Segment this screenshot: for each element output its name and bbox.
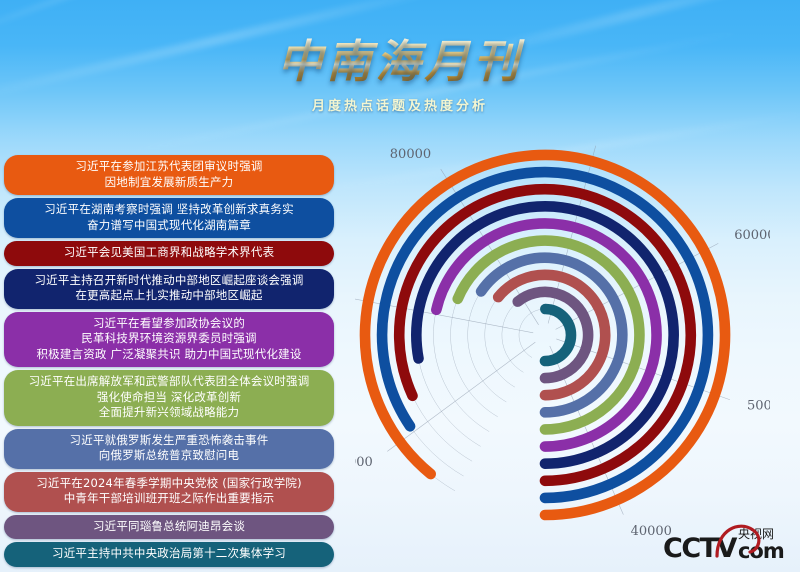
legend-item[interactable]: 习近平主持中共中央政治局第十二次集体学习 — [4, 542, 334, 567]
cctv-swoosh-icon — [709, 516, 769, 562]
legend-item[interactable]: 习近平在参加江苏代表团审议时强调 因地制宜发展新质生产力 — [4, 155, 334, 195]
axis-tick-label: 100000 — [355, 455, 373, 470]
page-title: 中南海月刊 — [0, 38, 800, 85]
legend-item-label: 习近平主持召开新时代推动中部地区崛起座谈会强调 在更高起点上扎实推动中部地区崛起 — [34, 273, 303, 303]
legend-item-label: 习近平在参加江苏代表团审议时强调 因地制宜发展新质生产力 — [75, 159, 262, 189]
axis-tick-label: 50000 — [747, 399, 770, 414]
legend-item[interactable]: 习近平在2024年春季学期中央党校 (国家行政学院) 中青年干部培训班开班之际作… — [4, 472, 334, 512]
chart-bars — [365, 155, 725, 515]
legend-item-label: 习近平在看望参加政协会议的 民革科技界环境资源界委员时强调 积极建言资政 广泛凝… — [36, 316, 301, 361]
axis-tick-label: 60000 — [734, 228, 770, 243]
legend-item-label: 习近平会见美国工商界和战略学术界代表 — [64, 245, 275, 259]
legend-item[interactable]: 习近平在出席解放军和武警部队代表团全体会议时强调 强化使命担当 深化改革创新 全… — [4, 370, 334, 426]
legend-item[interactable]: 习近平会见美国工商界和战略学术界代表 — [4, 241, 334, 266]
chart-svg: 400005000060000700008000090000100000 — [355, 135, 770, 545]
chart-bar[interactable] — [545, 309, 571, 361]
radial-bar-chart: 400005000060000700008000090000100000 — [355, 135, 770, 545]
legend-item[interactable]: 习近平主持召开新时代推动中部地区崛起座谈会强调 在更高起点上扎实推动中部地区崛起 — [4, 269, 334, 309]
axis-tick-label: 80000 — [390, 147, 431, 162]
legend-item-label: 习近平在出席解放军和武警部队代表团全体会议时强调 强化使命担当 深化改革创新 全… — [29, 374, 310, 419]
legend-item[interactable]: 习近平同瑙鲁总统阿迪昂会谈 — [4, 515, 334, 540]
legend-item-label: 习近平主持中共中央政治局第十二次集体学习 — [52, 546, 286, 560]
legend-item-label: 习近平就俄罗斯发生严重恐怖袭击事件 向俄罗斯总统普京致慰问电 — [70, 433, 269, 463]
legend-item[interactable]: 习近平在看望参加政协会议的 民革科技界环境资源界委员时强调 积极建言资政 广泛凝… — [4, 312, 334, 368]
legend-item[interactable]: 习近平就俄罗斯发生严重恐怖袭击事件 向俄罗斯总统普京致慰问电 — [4, 429, 334, 469]
legend-item[interactable]: 习近平在湖南考察时强调 坚持改革创新求真务实 奋力谱写中国式现代化湖南篇章 — [4, 198, 334, 238]
legend-list: 习近平在参加江苏代表团审议时强调 因地制宜发展新质生产力习近平在湖南考察时强调 … — [4, 155, 334, 570]
axis-tick-label: 70000 — [580, 135, 621, 136]
legend-item-label: 习近平在2024年春季学期中央党校 (国家行政学院) 中青年干部培训班开班之际作… — [36, 476, 302, 506]
page-subtitle: 月度热点话题及热度分析 — [0, 95, 800, 114]
legend-item-label: 习近平同瑙鲁总统阿迪昂会谈 — [93, 519, 245, 533]
header: 中南海月刊 月度热点话题及热度分析 — [0, 38, 800, 114]
chart-bar[interactable] — [399, 189, 691, 481]
legend-item-label: 习近平在湖南考察时强调 坚持改革创新求真务实 奋力谱写中国式现代化湖南篇章 — [44, 202, 294, 232]
cctv-logo: CCTV 央视网 com — [663, 516, 795, 562]
